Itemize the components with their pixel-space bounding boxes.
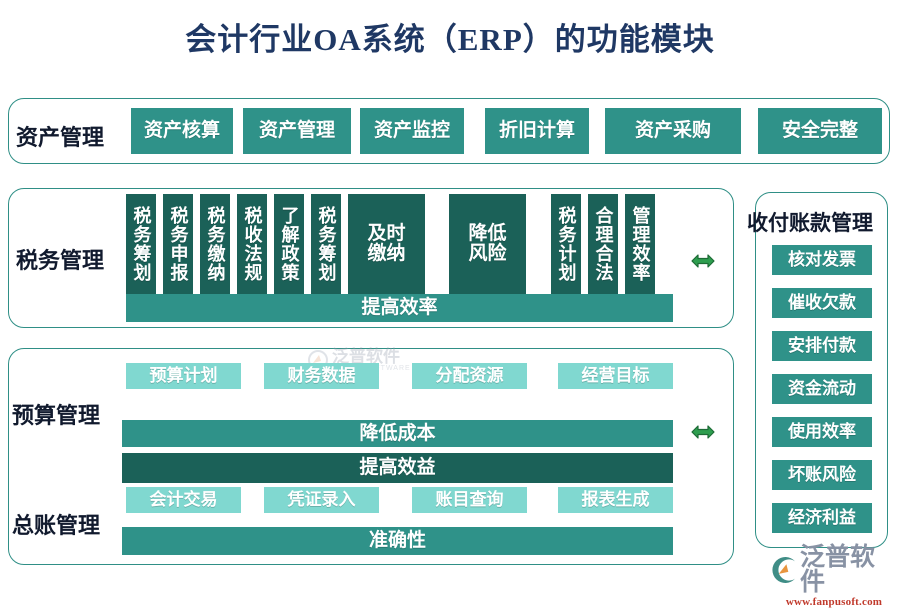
asset-chip-6[interactable]: 安全完整 <box>758 108 882 154</box>
sidebar-item-5[interactable]: 使用效率 <box>772 417 872 447</box>
ledger-chip-2[interactable]: 凭证录入 <box>264 487 379 513</box>
tax-vchip-4[interactable]: 税收法规 <box>237 194 267 294</box>
sidebar-title: 收付账款管理 <box>747 207 873 237</box>
sidebar-item-7[interactable]: 经济利益 <box>772 503 872 533</box>
sidebar-item-6[interactable]: 坏账风险 <box>772 460 872 490</box>
budget-bar-medium[interactable]: 降低成本 <box>122 420 673 447</box>
tax-bottom-bar[interactable]: 提高效率 <box>126 294 673 322</box>
diagram-canvas: 会计行业OA系统（ERP）的功能模块 资产管理 资产核算 资产管理 资产监控 折… <box>0 0 900 600</box>
tax-vchip-2[interactable]: 税务申报 <box>163 194 193 294</box>
budget-chip-2[interactable]: 财务数据 <box>264 363 379 389</box>
page-title: 会计行业OA系统（ERP）的功能模块 <box>0 14 900 59</box>
sidebar-item-3[interactable]: 安排付款 <box>772 331 872 361</box>
asset-chip-3[interactable]: 资产监控 <box>360 108 464 154</box>
tax-wide-chip-2[interactable]: 降低风险 <box>449 194 526 294</box>
logo-url: www.fanpusoft.com <box>772 596 896 608</box>
ledger-chip-3[interactable]: 账目查询 <box>412 487 527 513</box>
budget-chip-3[interactable]: 分配资源 <box>412 363 527 389</box>
ledger-chip-1[interactable]: 会计交易 <box>126 487 241 513</box>
sidebar-item-4[interactable]: 资金流动 <box>772 374 872 404</box>
ledger-section-label: 总账管理 <box>12 508 100 540</box>
tax-wide-chip-2-label: 降低风险 <box>467 224 509 264</box>
asset-chip-4[interactable]: 折旧计算 <box>485 108 589 154</box>
tax-vchip-3[interactable]: 税务缴纳 <box>200 194 230 294</box>
brand-logo: 泛普软件 www.fanpusoft.com <box>772 545 896 595</box>
tax-vchip-6[interactable]: 税务筹划 <box>311 194 341 294</box>
sidebar-item-2[interactable]: 催收欠款 <box>772 288 872 318</box>
ledger-chip-4[interactable]: 报表生成 <box>558 487 673 513</box>
sidebar-item-1[interactable]: 核对发票 <box>772 245 872 275</box>
asset-chip-1[interactable]: 资产核算 <box>131 108 233 154</box>
tax-vchip-1[interactable]: 税务筹划 <box>126 194 156 294</box>
fanpu-logo-icon <box>772 557 797 583</box>
budget-bar-dark[interactable]: 提高效益 <box>122 453 673 483</box>
tax-vchip-8[interactable]: 合理合法 <box>588 194 618 294</box>
asset-chip-5[interactable]: 资产采购 <box>605 108 741 154</box>
left-right-arrow-icon-2 <box>690 421 716 443</box>
tax-vchip-5[interactable]: 了解政策 <box>274 194 304 294</box>
budget-chip-4[interactable]: 经营目标 <box>558 363 673 389</box>
tax-wide-chip-1[interactable]: 及时缴纳 <box>348 194 425 294</box>
logo-text: 泛普软件 <box>800 545 896 595</box>
tax-vchip-9[interactable]: 管理效率 <box>625 194 655 294</box>
tax-section-label: 税务管理 <box>16 243 104 275</box>
tax-wide-chip-1-label: 及时缴纳 <box>366 224 408 264</box>
tax-vchip-7[interactable]: 税务计划 <box>551 194 581 294</box>
left-right-arrow-icon <box>690 250 716 272</box>
asset-chip-2[interactable]: 资产管理 <box>243 108 351 154</box>
ledger-bar[interactable]: 准确性 <box>122 527 673 555</box>
budget-chip-1[interactable]: 预算计划 <box>126 363 241 389</box>
budget-section-label: 预算管理 <box>12 398 100 430</box>
asset-section-label: 资产管理 <box>16 120 104 152</box>
